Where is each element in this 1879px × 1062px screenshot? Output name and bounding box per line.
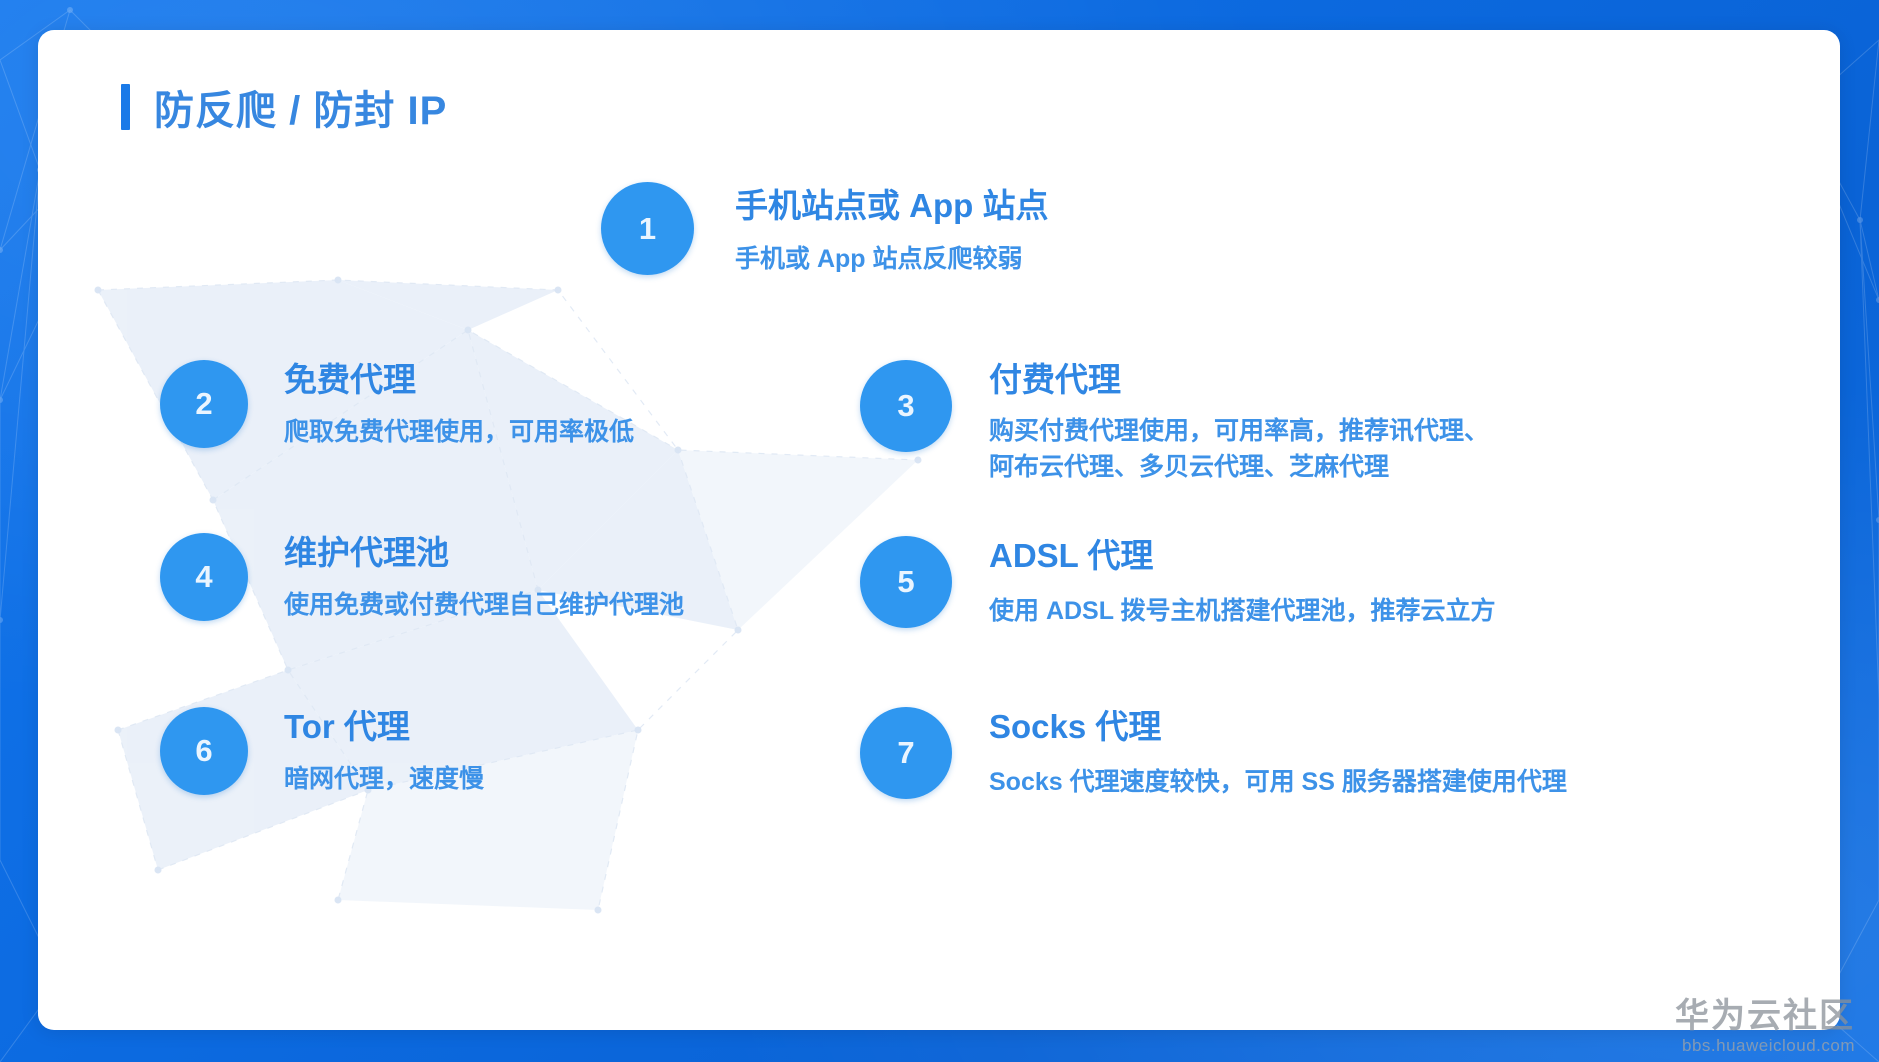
item-number-badge: 4 bbox=[160, 533, 248, 621]
item-title: 免费代理 bbox=[284, 362, 634, 398]
page-title: 防反爬 / 防封 IP bbox=[121, 78, 447, 136]
title-text: 防反爬 / 防封 IP bbox=[154, 78, 447, 136]
item-number-badge: 3 bbox=[860, 360, 952, 452]
item-title: 付费代理 bbox=[989, 362, 1489, 398]
item-title: 维护代理池 bbox=[284, 535, 684, 571]
card-polygon-decoration bbox=[38, 30, 1840, 1030]
item-number-badge: 7 bbox=[860, 707, 952, 799]
watermark-url: bbs.huaweicloud.com bbox=[1675, 1036, 1855, 1056]
list-item: 3 付费代理 购买付费代理使用，可用率高，推荐讯代理、 阿布云代理、多贝云代理、… bbox=[860, 360, 1489, 485]
slide-root: 防反爬 / 防封 IP 1 手机站点或 App 站点 手机或 App 站点反爬较… bbox=[0, 0, 1879, 1062]
item-title: Socks 代理 bbox=[989, 709, 1567, 745]
item-title: ADSL 代理 bbox=[989, 538, 1496, 574]
item-subtitle: 爬取免费代理使用，可用率极低 bbox=[284, 415, 634, 451]
item-text-group: 手机站点或 App 站点 手机或 App 站点反爬较弱 bbox=[735, 182, 1048, 278]
item-text-group: ADSL 代理 使用 ADSL 拨号主机搭建代理池，推荐云立方 bbox=[989, 536, 1496, 630]
item-subtitle: 使用免费或付费代理自己维护代理池 bbox=[284, 588, 684, 624]
item-subtitle: 购买付费代理使用，可用率高，推荐讯代理、 阿布云代理、多贝云代理、芝麻代理 bbox=[989, 414, 1489, 485]
item-subtitle: 暗网代理，速度慢 bbox=[284, 762, 484, 798]
item-text-group: 维护代理池 使用免费或付费代理自己维护代理池 bbox=[284, 533, 684, 624]
content-card: 防反爬 / 防封 IP 1 手机站点或 App 站点 手机或 App 站点反爬较… bbox=[38, 30, 1840, 1030]
list-item: 7 Socks 代理 Socks 代理速度较快，可用 SS 服务器搭建使用代理 bbox=[860, 707, 1567, 801]
item-text-group: Socks 代理 Socks 代理速度较快，可用 SS 服务器搭建使用代理 bbox=[989, 707, 1567, 801]
item-title: 手机站点或 App 站点 bbox=[735, 188, 1048, 224]
title-accent-bar bbox=[121, 84, 130, 130]
item-number-badge: 5 bbox=[860, 536, 952, 628]
item-subtitle: Socks 代理速度较快，可用 SS 服务器搭建使用代理 bbox=[989, 765, 1567, 801]
item-number-badge: 1 bbox=[601, 182, 694, 275]
item-number-badge: 6 bbox=[160, 707, 248, 795]
item-number-badge: 2 bbox=[160, 360, 248, 448]
list-item: 6 Tor 代理 暗网代理，速度慢 bbox=[160, 707, 484, 798]
item-text-group: Tor 代理 暗网代理，速度慢 bbox=[284, 707, 484, 798]
item-title: Tor 代理 bbox=[284, 709, 484, 745]
item-subtitle: 手机或 App 站点反爬较弱 bbox=[735, 242, 1048, 278]
list-item: 1 手机站点或 App 站点 手机或 App 站点反爬较弱 bbox=[601, 182, 1048, 278]
item-subtitle: 使用 ADSL 拨号主机搭建代理池，推荐云立方 bbox=[989, 594, 1496, 630]
list-item: 5 ADSL 代理 使用 ADSL 拨号主机搭建代理池，推荐云立方 bbox=[860, 536, 1496, 630]
item-text-group: 付费代理 购买付费代理使用，可用率高，推荐讯代理、 阿布云代理、多贝云代理、芝麻… bbox=[989, 360, 1489, 485]
list-item: 2 免费代理 爬取免费代理使用，可用率极低 bbox=[160, 360, 634, 451]
item-text-group: 免费代理 爬取免费代理使用，可用率极低 bbox=[284, 360, 634, 451]
list-item: 4 维护代理池 使用免费或付费代理自己维护代理池 bbox=[160, 533, 684, 624]
